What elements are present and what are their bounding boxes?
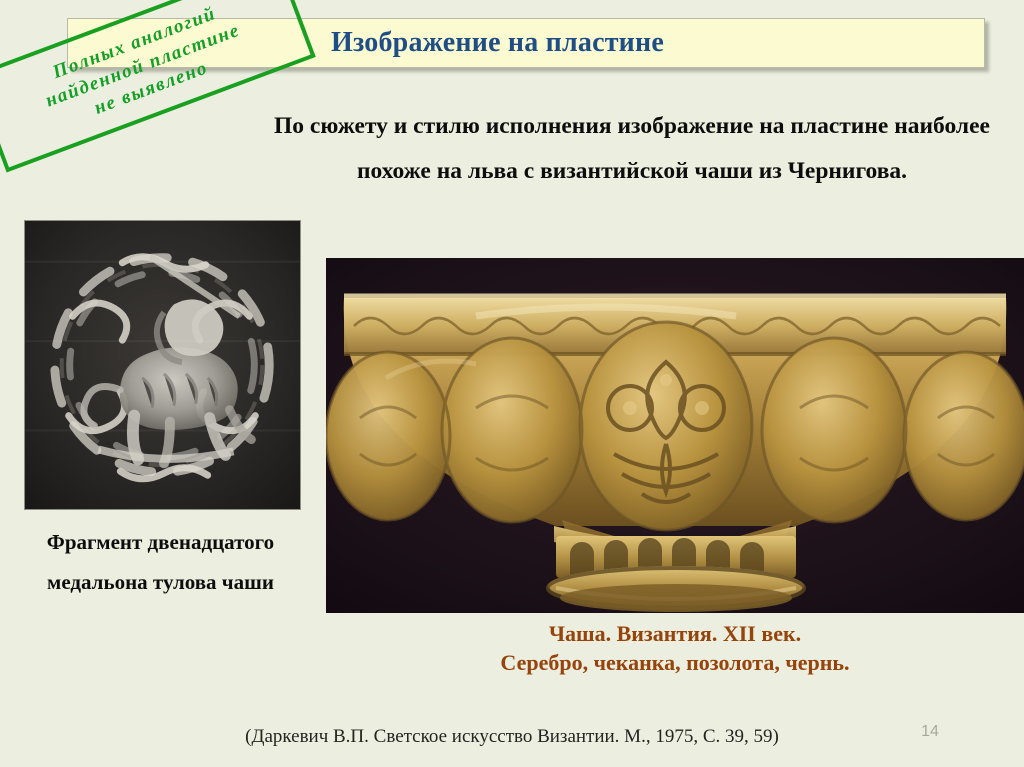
medallion-caption: Фрагмент двенадцатого медальона тулова ч… (8, 522, 313, 602)
page-title: Изображение на пластине (331, 27, 664, 59)
bowl-photo (326, 258, 1024, 613)
body-paragraph: По сюжету и стилю исполнения изображение… (252, 104, 1012, 194)
slide-canvas: Изображение на пластине Полных аналогий … (0, 0, 1024, 767)
medallion-image (25, 221, 300, 509)
bowl-caption: Чаша. Византия. XII век. Серебро, чеканк… (326, 619, 1024, 677)
medallion-photo (24, 220, 301, 510)
source-citation: (Даркевич В.П. Светское искусство Визант… (0, 726, 1024, 748)
bowl-caption-line-1: Чаша. Византия. XII век. (326, 619, 1024, 648)
page-number: 14 (910, 723, 950, 741)
bowl-caption-line-2: Серебро, чеканка, позолота, чернь. (326, 648, 1024, 677)
bowl-image (326, 258, 1024, 613)
